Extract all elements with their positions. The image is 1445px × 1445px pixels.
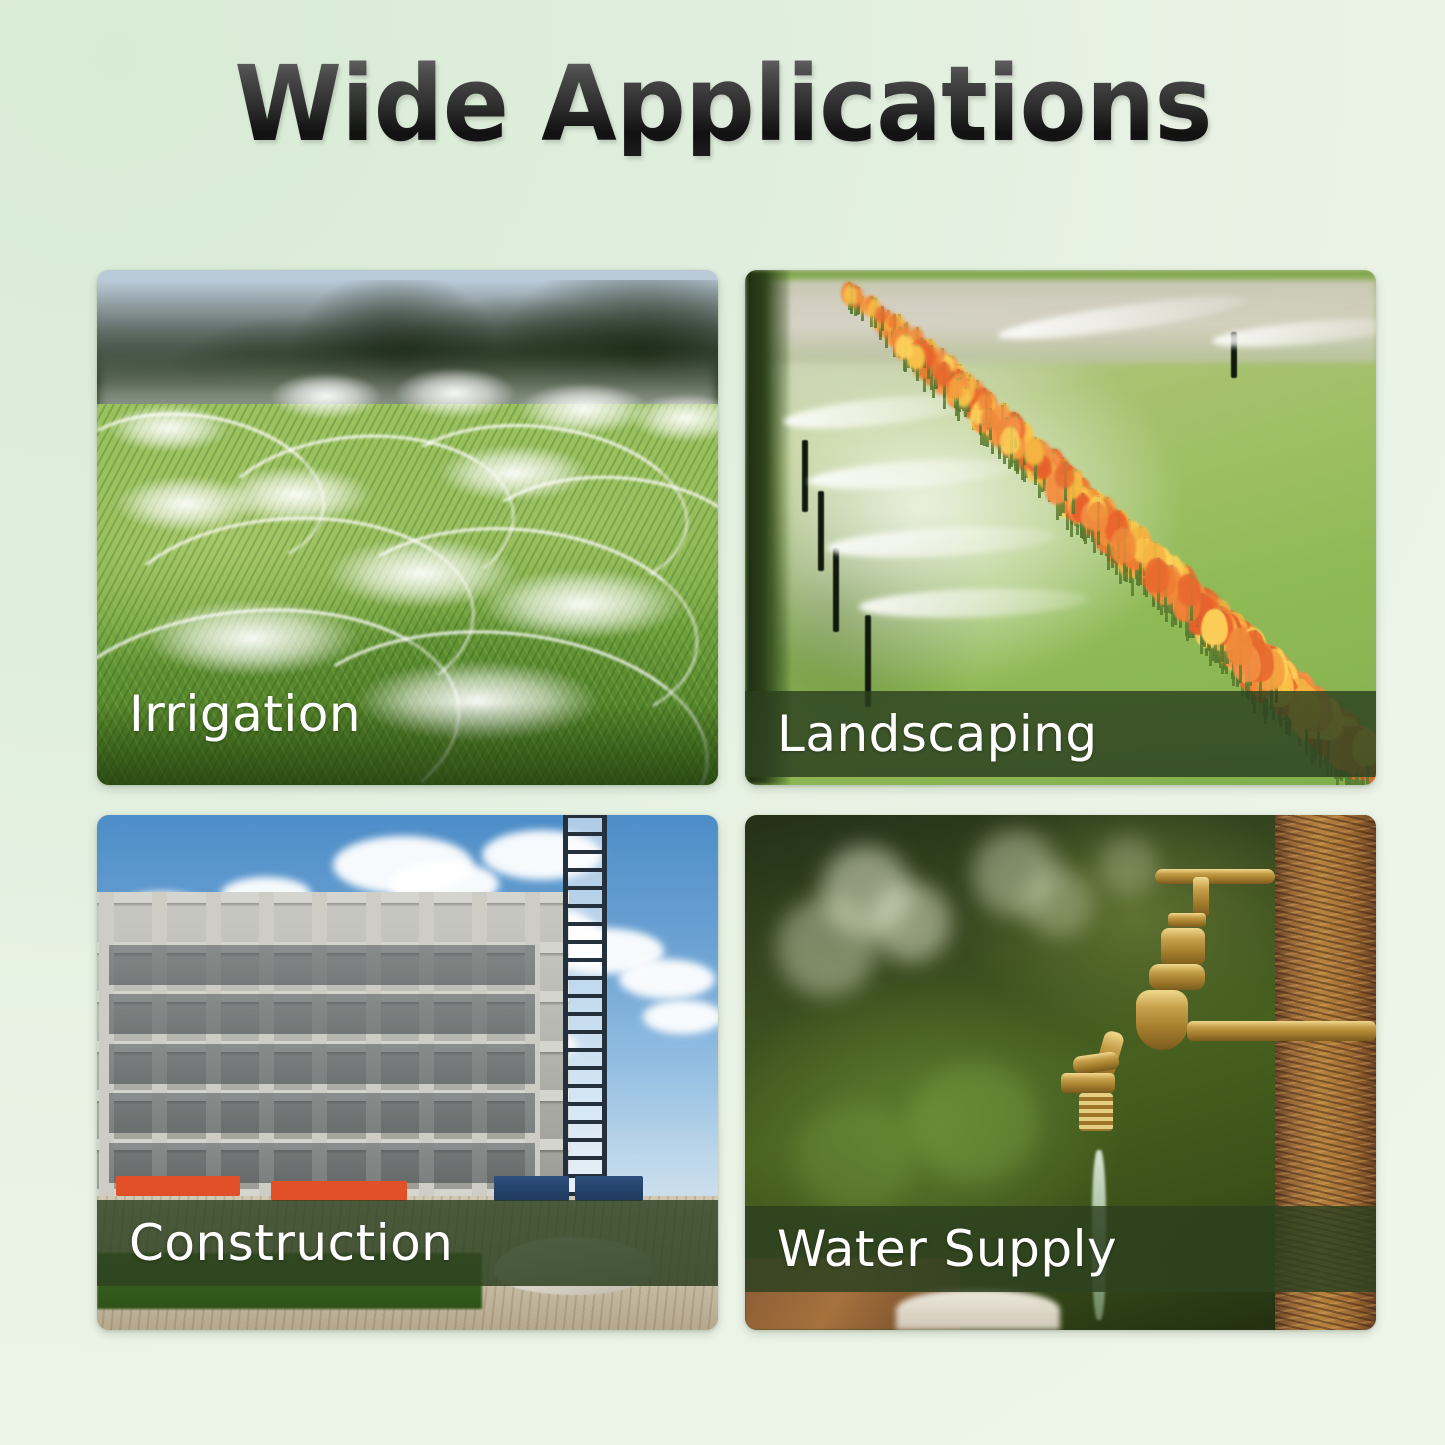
application-card-construction[interactable]: Construction [97,815,718,1330]
card-caption-landscaping: Landscaping [745,691,1376,777]
card-caption-water-supply: Water Supply [745,1206,1376,1292]
application-card-landscaping[interactable]: Landscaping [745,270,1376,785]
sprinkler-spray [271,373,381,419]
bokeh-circle [909,1062,1039,1182]
open-bay [109,1093,535,1133]
bokeh-circle [871,882,951,962]
bokeh-circle [1098,836,1158,896]
caption-label: Irrigation [129,689,361,739]
tap-bonnet [1161,928,1205,966]
tap-handle[interactable] [1155,869,1275,884]
caption-label: Construction [129,1218,453,1268]
construction-photo: Construction [97,815,718,1330]
foreground-bowl [896,1289,1060,1330]
sprinkler-stake [802,440,808,512]
page-title: Wide Applications [234,52,1211,156]
application-card-water-supply[interactable]: Water Supply [745,815,1376,1330]
page-root: Wide Applications [0,0,1445,1445]
open-bay [109,1044,535,1084]
safety-barrier [271,1181,408,1202]
water-supply-photo: Water Supply [745,815,1376,1330]
sprinkler-stake [833,548,839,632]
site-skip [575,1176,643,1202]
caption-label: Landscaping [777,709,1098,759]
open-bay [109,994,535,1034]
page-title-container: Wide Applications [0,52,1445,156]
irrigation-photo: Irrigation [97,270,718,785]
sprinkler-stake [818,491,824,571]
tap-collar [1149,964,1205,990]
open-bay [109,945,535,985]
safety-barrier [116,1176,240,1197]
tap-nut [1168,913,1206,927]
card-caption-construction: Construction [97,1200,718,1286]
cloud [643,1000,718,1034]
tap-spindle [1193,877,1209,917]
applications-grid: Irrigation [97,270,1376,1330]
sprinkler-spray [395,368,515,418]
cloud [619,959,715,999]
floor-slab [97,892,569,903]
site-skip [494,1176,569,1202]
tower-crane [563,815,607,1196]
building-frame [97,892,569,1201]
application-card-irrigation[interactable]: Irrigation [97,270,718,785]
bokeh-circle [1023,867,1093,937]
caption-label: Water Supply [777,1224,1117,1274]
tap-inlet-pipe [1187,1021,1376,1041]
bokeh-circle [777,897,877,997]
tap-body [1136,990,1188,1050]
hose-tail [1079,1093,1113,1131]
landscaping-photo: Landscaping [745,270,1376,785]
card-caption-irrigation: Irrigation [97,671,718,757]
hose-coupling-nut [1061,1073,1115,1093]
